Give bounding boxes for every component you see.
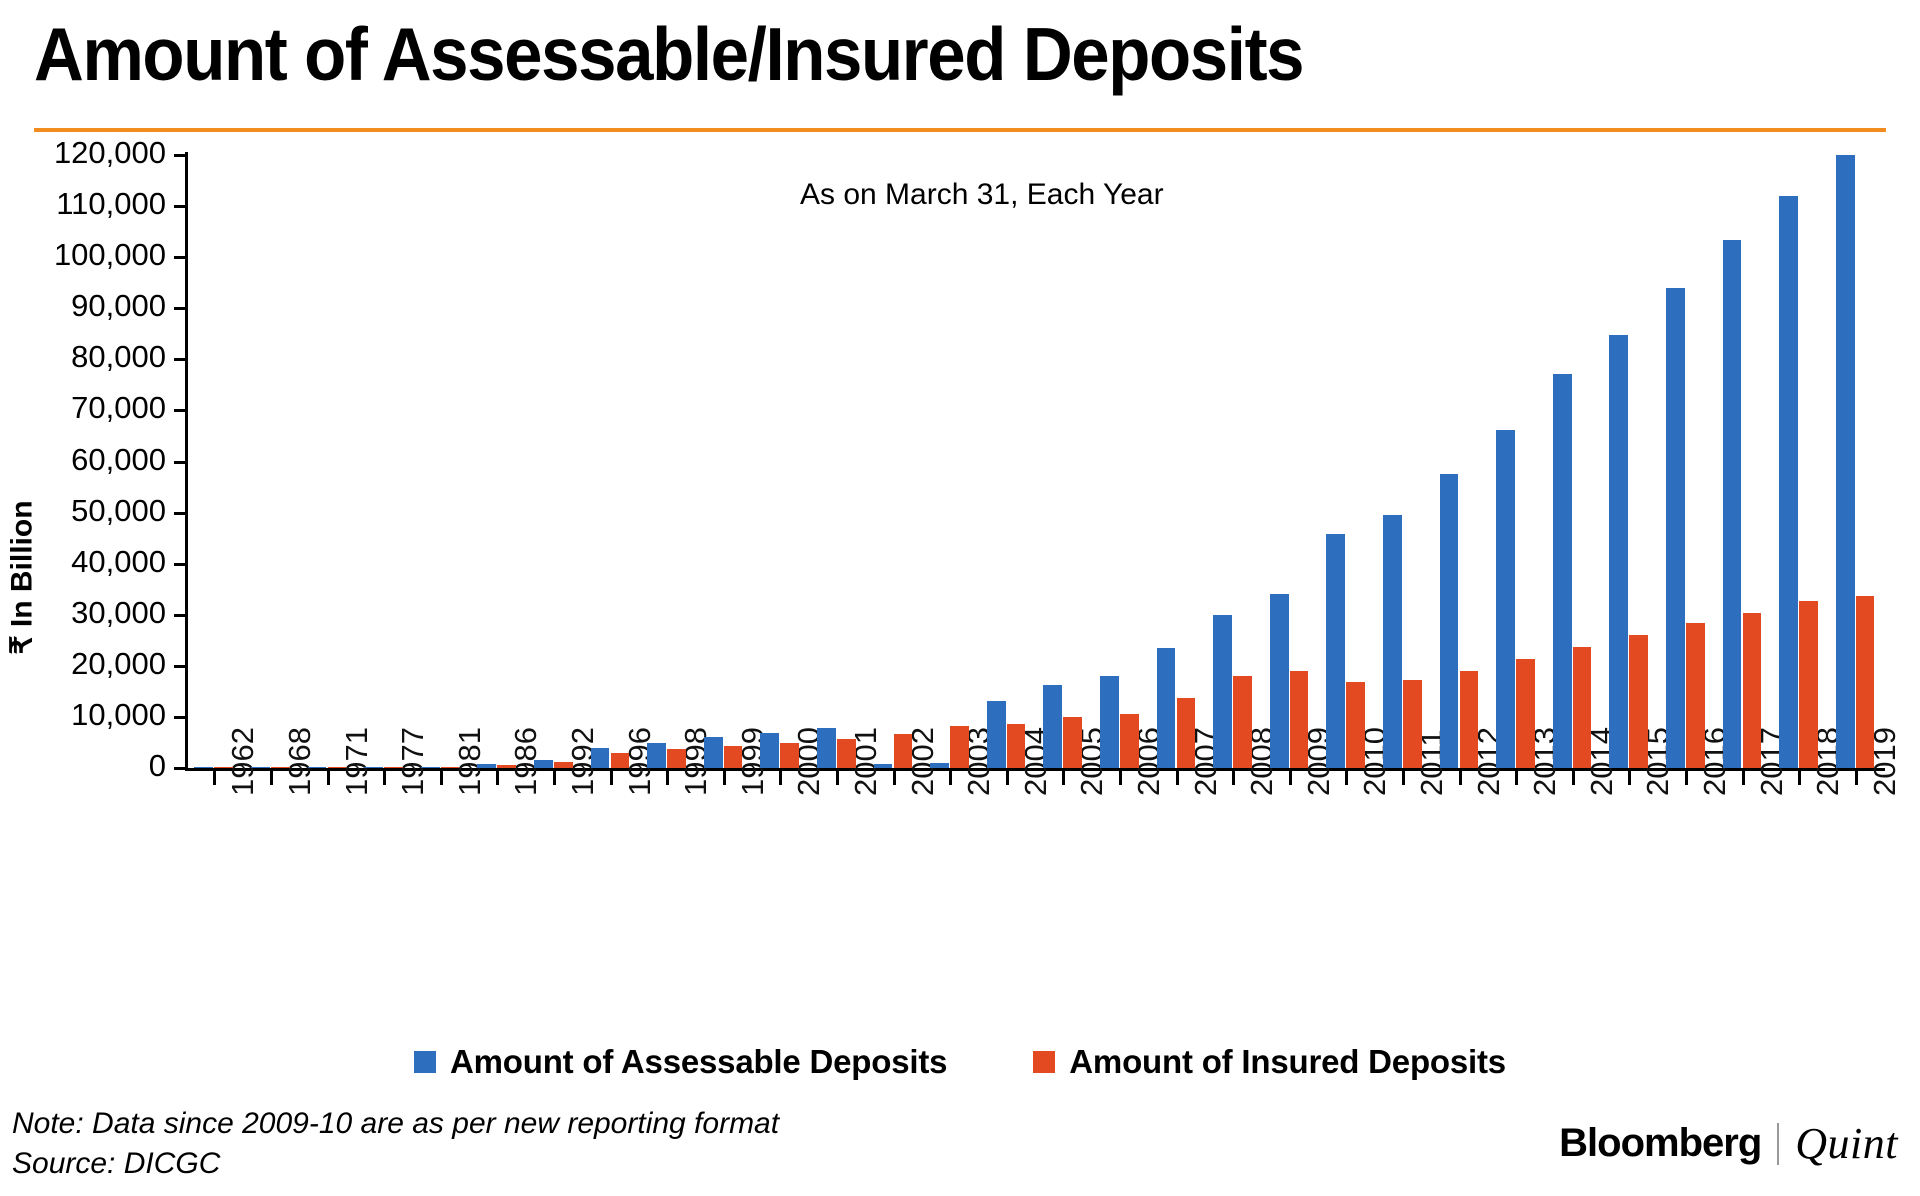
- bar-assessable-2006: [1100, 676, 1119, 768]
- y-axis-tick-label: 110,000: [6, 186, 166, 222]
- y-axis-tick-label: 50,000: [6, 493, 166, 529]
- bar-insured-2000: [780, 743, 799, 768]
- bar-assessable-1996: [591, 748, 610, 768]
- x-axis-tick: [1685, 771, 1688, 785]
- bar-assessable-1968: [251, 767, 270, 768]
- bar-insured-2013: [1516, 659, 1535, 768]
- bar-assessable-1992: [534, 760, 553, 768]
- bar-insured-2006: [1120, 714, 1139, 768]
- legend-swatch-icon: [1033, 1051, 1055, 1073]
- legend-item-assessable[interactable]: Amount of Assessable Deposits: [414, 1043, 947, 1081]
- bar-insured-1998: [667, 749, 686, 768]
- bar-assessable-2017: [1723, 240, 1742, 768]
- bar-assessable-2018: [1779, 196, 1798, 768]
- x-axis-tick: [327, 771, 330, 785]
- bar-insured-2011: [1403, 680, 1422, 768]
- bar-assessable-2005: [1043, 685, 1062, 768]
- bar-assessable-1999: [704, 737, 723, 768]
- bar-assessable-2010: [1326, 534, 1345, 768]
- bar-assessable-2003: [930, 763, 949, 768]
- x-axis-tick: [723, 771, 726, 785]
- bar-assessable-2019: [1836, 155, 1855, 769]
- bar-assessable-2009: [1270, 594, 1289, 768]
- bar-insured-2019: [1856, 596, 1875, 768]
- y-axis-tick-label: 100,000: [6, 237, 166, 273]
- bar-insured-1986: [497, 765, 516, 768]
- x-axis-tick: [1515, 771, 1518, 785]
- bar-assessable-2012: [1440, 474, 1459, 768]
- y-axis-tick: [174, 358, 186, 361]
- brand-quint-text: Quint: [1795, 1118, 1898, 1169]
- bar-insured-2012: [1460, 671, 1479, 768]
- bar-assessable-1962: [194, 767, 213, 768]
- plot-area: [186, 155, 1884, 768]
- bar-assessable-2002: [874, 764, 893, 768]
- legend-swatch-icon: [414, 1051, 436, 1073]
- x-axis-tick: [1798, 771, 1801, 785]
- y-axis-tick-label: 10,000: [6, 697, 166, 733]
- bar-insured-2015: [1629, 635, 1648, 768]
- y-axis-tick: [174, 409, 186, 412]
- x-axis-tick: [836, 771, 839, 785]
- x-axis-tick: [949, 771, 952, 785]
- bar-assessable-2015: [1609, 335, 1628, 768]
- bar-insured-1962: [214, 767, 233, 768]
- chart-legend: Amount of Assessable DepositsAmount of I…: [0, 1043, 1920, 1081]
- bar-insured-1999: [724, 746, 743, 768]
- x-axis-tick: [1459, 771, 1462, 785]
- y-axis-tick-label: 70,000: [6, 390, 166, 426]
- bar-assessable-1981: [421, 767, 440, 768]
- y-axis-tick: [174, 767, 186, 770]
- x-axis-tick: [1572, 771, 1575, 785]
- chart-container: ₹ In Billion As on March 31, Each Year 0…: [0, 140, 1920, 930]
- bar-assessable-2008: [1213, 615, 1232, 768]
- legend-label: Amount of Insured Deposits: [1069, 1043, 1506, 1081]
- bar-insured-2005: [1063, 717, 1082, 768]
- bar-insured-1977: [384, 767, 403, 768]
- x-axis-tick: [666, 771, 669, 785]
- bar-assessable-2001: [817, 728, 836, 768]
- x-axis-tick: [893, 771, 896, 785]
- bar-insured-2018: [1799, 601, 1818, 768]
- bar-insured-2010: [1346, 682, 1365, 768]
- bar-assessable-2004: [987, 701, 1006, 768]
- chart-page: Amount of Assessable/Insured Deposits ₹ …: [0, 0, 1920, 1196]
- x-axis-tick: [1855, 771, 1858, 785]
- y-axis-tick-label: 0: [6, 748, 166, 784]
- y-axis-tick: [174, 205, 186, 208]
- bar-insured-2004: [1007, 724, 1026, 768]
- y-axis-tick-label: 120,000: [6, 135, 166, 171]
- legend-item-insured[interactable]: Amount of Insured Deposits: [1033, 1043, 1506, 1081]
- bar-assessable-2014: [1553, 374, 1572, 768]
- y-axis-tick-label: 40,000: [6, 544, 166, 580]
- x-axis-tick: [496, 771, 499, 785]
- y-axis-tick: [174, 461, 186, 464]
- footer-source-line: Source: DICGC: [12, 1144, 779, 1184]
- bar-assessable-2007: [1157, 648, 1176, 768]
- bar-assessable-2016: [1666, 288, 1685, 768]
- bar-insured-2007: [1177, 698, 1196, 768]
- x-axis-tick: [610, 771, 613, 785]
- bar-insured-1992: [554, 762, 573, 768]
- x-axis-tick: [1742, 771, 1745, 785]
- y-axis-tick-label: 80,000: [6, 339, 166, 375]
- bar-insured-2014: [1573, 647, 1592, 768]
- x-axis-tick: [553, 771, 556, 785]
- bar-insured-1996: [611, 753, 630, 768]
- y-axis-tick-label: 90,000: [6, 288, 166, 324]
- x-axis-tick: [1402, 771, 1405, 785]
- bar-insured-2001: [837, 739, 856, 768]
- y-axis-tick: [174, 665, 186, 668]
- y-axis-tick: [174, 716, 186, 719]
- x-axis-tick: [440, 771, 443, 785]
- bar-insured-2017: [1743, 613, 1762, 768]
- bar-insured-2016: [1686, 623, 1705, 768]
- x-axis-tick: [1232, 771, 1235, 785]
- footer-note-line: Note: Data since 2009-10 are as per new …: [12, 1104, 779, 1144]
- x-axis-tick: [1119, 771, 1122, 785]
- bar-insured-1981: [441, 767, 460, 768]
- legend-label: Amount of Assessable Deposits: [450, 1043, 947, 1081]
- y-axis-tick: [174, 154, 186, 157]
- bar-assessable-1986: [477, 764, 496, 768]
- footer-notes: Note: Data since 2009-10 are as per new …: [12, 1104, 779, 1184]
- brand-logo: Bloomberg Quint: [1559, 1118, 1898, 1169]
- bar-assessable-2011: [1383, 515, 1402, 768]
- x-axis-tick: [213, 771, 216, 785]
- bar-insured-1971: [328, 767, 347, 768]
- bar-insured-2008: [1233, 676, 1252, 768]
- x-axis-tick: [1176, 771, 1179, 785]
- y-axis-tick: [174, 307, 186, 310]
- bar-insured-1968: [271, 767, 290, 768]
- y-axis-tick: [174, 512, 186, 515]
- bar-assessable-2013: [1496, 430, 1515, 768]
- bar-insured-2003: [950, 726, 969, 768]
- x-axis-tick: [270, 771, 273, 785]
- y-axis-tick: [174, 563, 186, 566]
- brand-bloomberg-text: Bloomberg: [1559, 1121, 1761, 1166]
- x-axis-tick: [1628, 771, 1631, 785]
- y-axis-tick: [174, 256, 186, 259]
- bar-assessable-1998: [647, 743, 666, 768]
- brand-divider: [1777, 1123, 1779, 1165]
- y-axis-tick: [174, 614, 186, 617]
- x-axis-tick: [1062, 771, 1065, 785]
- bar-assessable-1971: [308, 767, 327, 768]
- bar-assessable-1977: [364, 767, 383, 768]
- bar-assessable-2000: [760, 733, 779, 768]
- bar-insured-2002: [894, 734, 913, 768]
- x-axis-tick: [1006, 771, 1009, 785]
- x-axis-tick: [383, 771, 386, 785]
- page-title: Amount of Assessable/Insured Deposits: [34, 8, 1303, 100]
- y-axis-tick-label: 20,000: [6, 646, 166, 682]
- y-axis-tick-label: 60,000: [6, 442, 166, 478]
- title-divider: [34, 128, 1886, 132]
- x-axis-tick: [779, 771, 782, 785]
- x-axis-tick: [1345, 771, 1348, 785]
- x-axis-tick: [1289, 771, 1292, 785]
- bar-insured-2009: [1290, 671, 1309, 768]
- y-axis-tick-label: 30,000: [6, 595, 166, 631]
